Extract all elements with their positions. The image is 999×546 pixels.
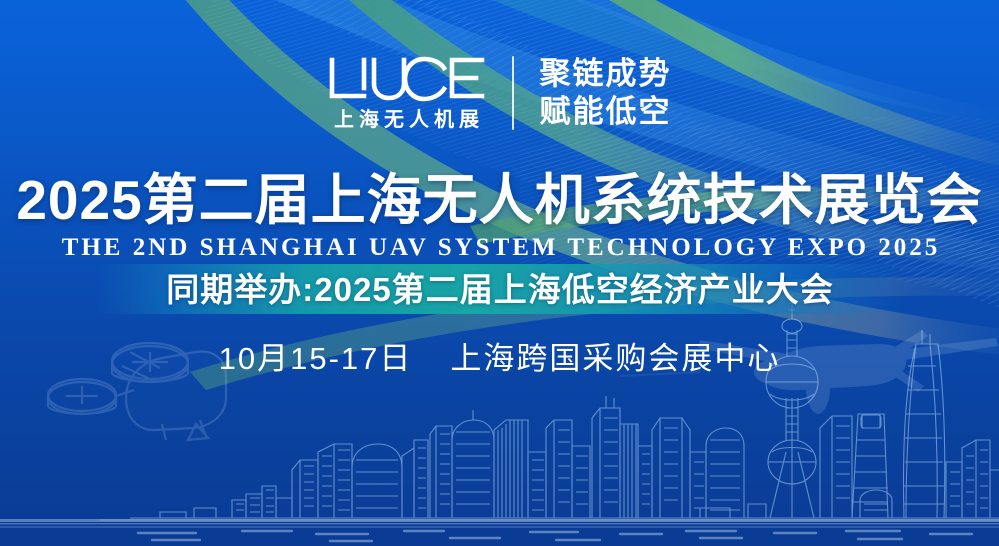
logo-block: 上海无人机展: [328, 56, 486, 130]
title-chinese: 2025第二届上海无人机系统技术展览会: [0, 172, 999, 230]
logo-lockup: 上海无人机展 聚链成势 赋能低空: [0, 56, 999, 130]
tagline-line-2: 赋能低空: [540, 95, 672, 130]
logo-tagline: 聚链成势 赋能低空: [540, 57, 672, 129]
logo-subtitle: 上海无人机展: [329, 110, 484, 130]
expo-poster: 上海无人机展 聚链成势 赋能低空 2025第二届上海无人机系统技术展览会 THE…: [0, 0, 999, 546]
title-english: THE 2ND SHANGHAI UAV SYSTEM TECHNOLOGY E…: [0, 234, 999, 262]
uuce-wordmark-icon: [328, 56, 486, 104]
event-venue: 上海跨国采购会展中心: [450, 343, 780, 374]
event-info-row: 10月15-17日 上海跨国采购会展中心: [0, 343, 999, 374]
logo-divider: [512, 56, 514, 130]
waterline: [0, 519, 999, 528]
event-date: 10月15-17日: [219, 343, 413, 374]
main-title-block: 2025第二届上海无人机系统技术展览会 THE 2ND SHANGHAI UAV…: [0, 172, 999, 261]
tagline-line-1: 聚链成势: [540, 57, 672, 92]
sub-event-banner: 同期举办:2025第二届上海低空经济产业大会: [95, 264, 905, 314]
sub-event-text: 同期举办:2025第二届上海低空经济产业大会: [166, 273, 833, 306]
